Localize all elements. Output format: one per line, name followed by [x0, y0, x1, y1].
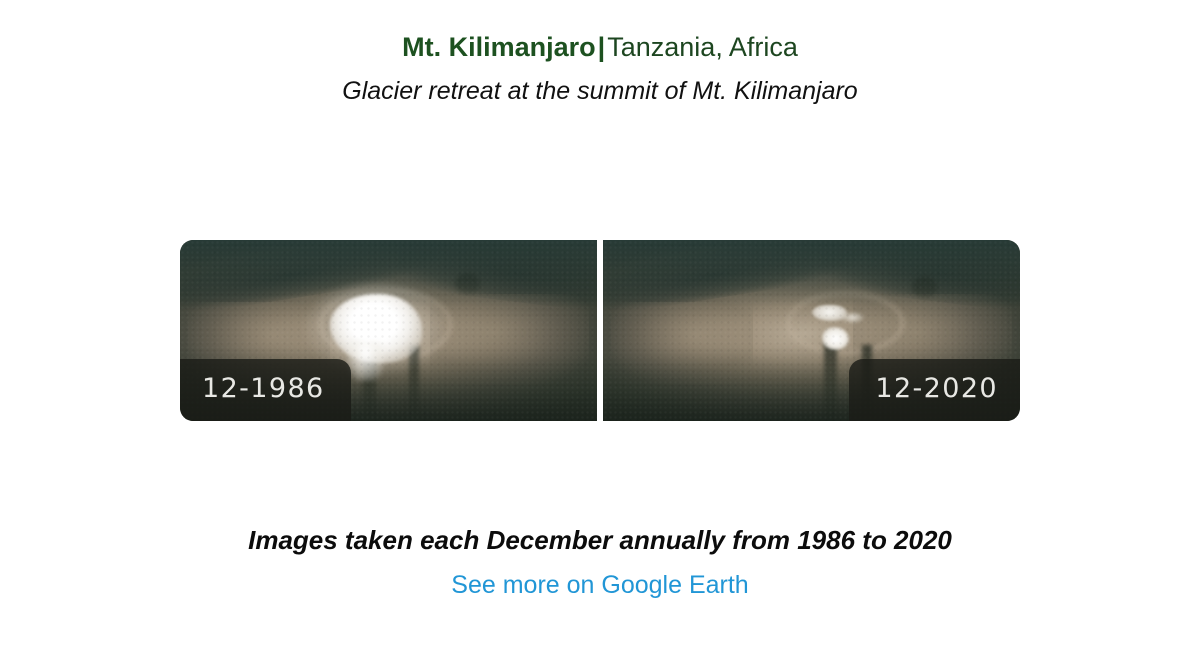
- page-title: Mt. Kilimanjaro|Tanzania, Africa: [0, 30, 1200, 64]
- date-label-before: 12-1986: [202, 373, 325, 404]
- date-badge-before: 12-1986: [180, 359, 351, 421]
- title-separator: |: [596, 32, 608, 62]
- before-after-comparison[interactable]: 12-1986 12-2020: [180, 240, 1020, 421]
- satellite-image-before[interactable]: 12-1986: [180, 240, 597, 421]
- google-earth-link[interactable]: See more on Google Earth: [451, 570, 748, 600]
- date-badge-after: 12-2020: [849, 359, 1020, 421]
- title-region-name: Tanzania, Africa: [607, 32, 798, 62]
- footer: Images taken each December annually from…: [0, 524, 1200, 600]
- satellite-image-after[interactable]: 12-2020: [603, 240, 1020, 421]
- date-label-after: 12-2020: [875, 373, 998, 404]
- title-place-name: Mt. Kilimanjaro: [402, 32, 596, 62]
- page-subtitle: Glacier retreat at the summit of Mt. Kil…: [0, 76, 1200, 106]
- header: Mt. Kilimanjaro|Tanzania, Africa Glacier…: [0, 30, 1200, 106]
- footer-caption: Images taken each December annually from…: [0, 524, 1200, 556]
